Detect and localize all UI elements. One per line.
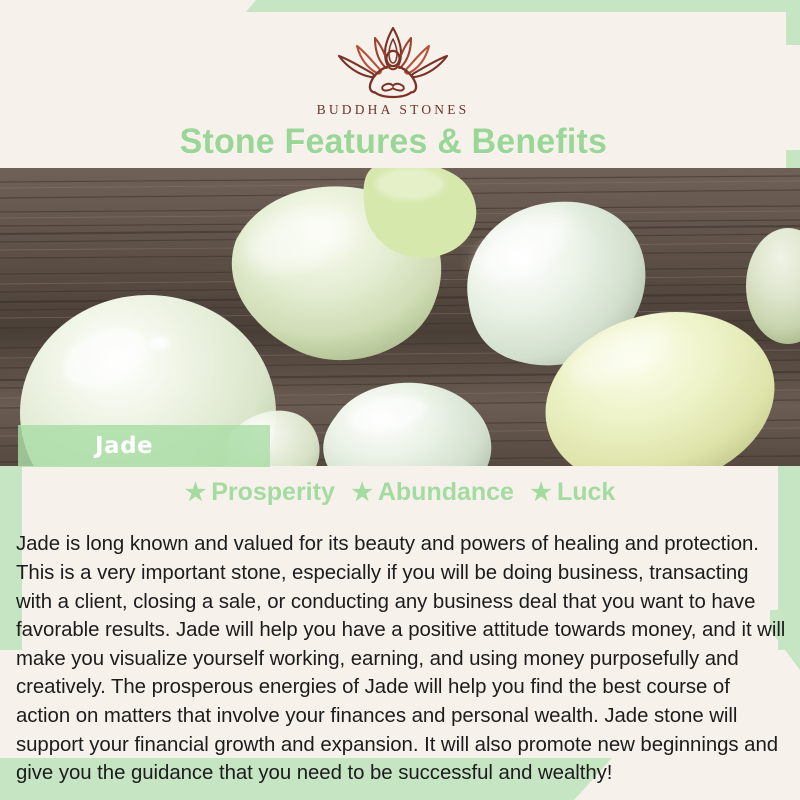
- benefit-label: Luck: [557, 478, 615, 506]
- lotus-meditation-icon: [317, 22, 469, 100]
- photo-caption-banner: Jade: [18, 425, 270, 467]
- star-icon: ★: [530, 479, 552, 506]
- description-text: Jade is long known and valued for its be…: [16, 530, 788, 787]
- brand-logo: BUDDHA STONES: [0, 22, 786, 118]
- benefit-item-prosperity: ★Prosperity: [185, 478, 335, 507]
- benefits-row: ★Prosperity ★Abundance ★Luck: [0, 478, 800, 507]
- page-title-text: Stone Features & Benefits: [179, 122, 606, 162]
- star-icon: ★: [185, 479, 207, 506]
- benefit-item-luck: ★Luck: [530, 478, 615, 507]
- benefit-label: Abundance: [378, 478, 514, 506]
- star-icon: ★: [351, 479, 373, 506]
- brand-wordmark: BUDDHA STONES: [0, 102, 786, 118]
- page-title: Stone Features & Benefits: [0, 122, 786, 162]
- benefit-item-abundance: ★Abundance: [351, 478, 514, 507]
- product-photo: [0, 168, 800, 466]
- photo-caption-text: Jade: [95, 433, 153, 459]
- benefit-label: Prosperity: [211, 478, 335, 506]
- infographic-page: BUDDHA STONES Stone Features & Benefits: [0, 0, 800, 800]
- jade-stones-image: [0, 168, 800, 466]
